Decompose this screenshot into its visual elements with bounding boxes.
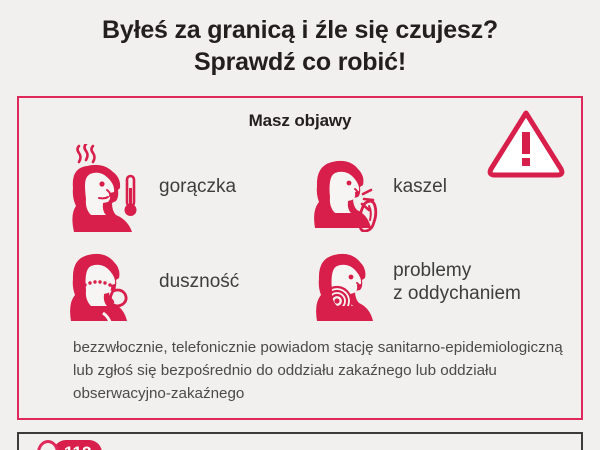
symptom-item-fever: gorączka — [19, 144, 307, 232]
phone-zero-icon — [37, 440, 59, 450]
breathing-problem-person-icon — [307, 239, 387, 327]
instruction-text: bezzwłocznie, telefonicznie powiadom sta… — [73, 336, 563, 405]
symptom-grid: gorączka — [19, 140, 581, 330]
symptom-item-cough: kaszel — [307, 144, 581, 232]
symptom-item-dyspnea: duszność — [19, 239, 307, 327]
symptom-label-cough: kaszel — [393, 176, 447, 198]
symptom-item-breathing-problems: problemy z oddychaniem — [307, 239, 581, 327]
symptom-row: gorączka — [19, 140, 581, 235]
emergency-panel-content: 112 — [19, 434, 581, 450]
symptom-row: duszność — [19, 235, 581, 330]
symptom-label-fever: gorączka — [159, 176, 236, 198]
page-title: Byłeś za granicą i źle się czujesz? Spra… — [0, 0, 600, 78]
shortness-of-breath-icon — [57, 239, 153, 327]
emergency-phone-badge: 112 — [37, 440, 102, 450]
infographic-page: Byłeś za granicą i źle się czujesz? Spra… — [0, 0, 600, 450]
symptoms-panel: Masz objawy — [17, 96, 583, 420]
symptom-label-breathing-problems: problemy z oddychaniem — [393, 260, 521, 305]
page-title-line-2: Sprawdź co robić! — [0, 46, 600, 78]
coughing-person-icon — [307, 144, 387, 232]
page-title-line-1: Byłeś za granicą i źle się czujesz? — [0, 14, 600, 46]
fever-head-thermometer-icon — [57, 144, 153, 232]
symptom-label-dyspnea: duszność — [159, 271, 239, 293]
emergency-panel: 112 — [17, 432, 583, 450]
emergency-phone-number: 112 — [53, 440, 102, 450]
